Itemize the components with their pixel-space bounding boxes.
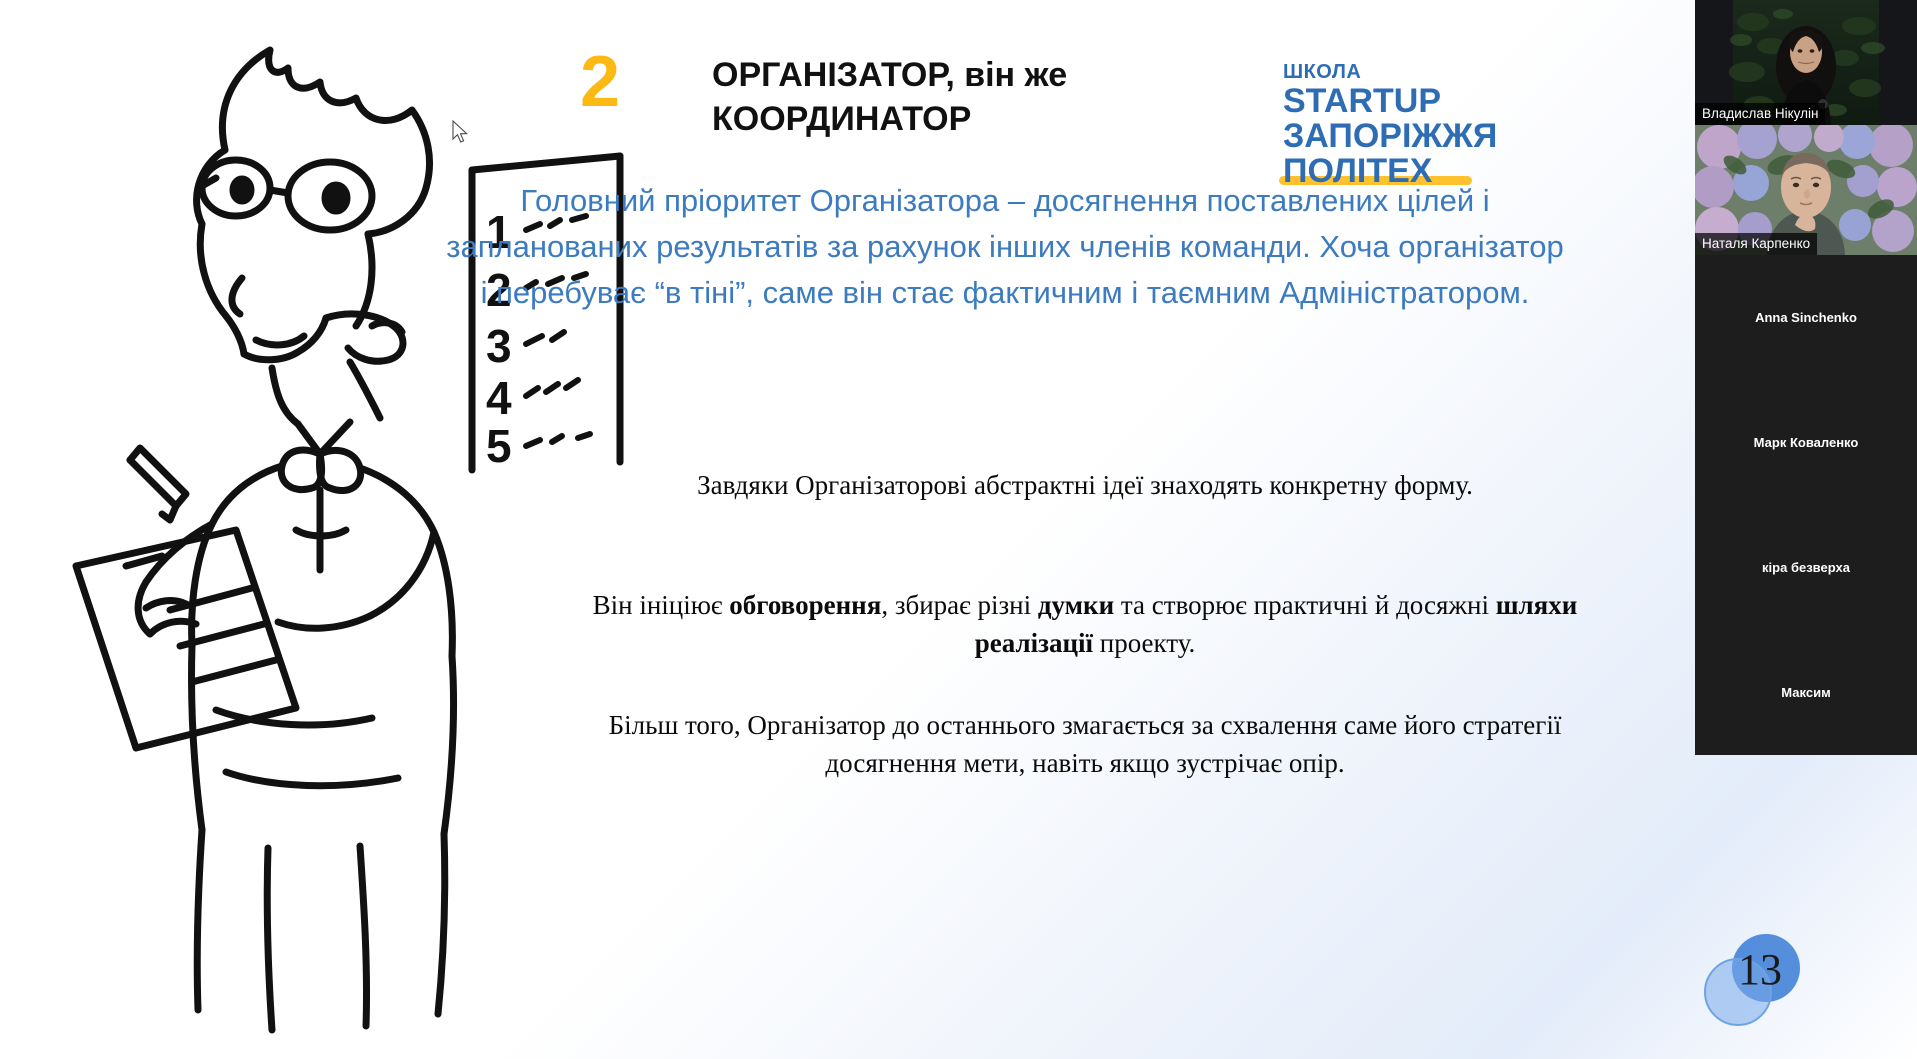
participant-name-label: Марк Коваленко <box>1748 435 1865 450</box>
screen: 1 2 3 4 5 2 ОРГАНІЗАТОР, він же КООРДИНА… <box>0 0 1917 1059</box>
logo-line-polytech: ПОЛІТЕХ <box>1283 154 1432 189</box>
participant-name-label: Anna Sinchenko <box>1749 310 1863 325</box>
participant-tile[interactable]: Максим <box>1695 630 1917 755</box>
para2-text-1: Він ініціює <box>593 590 730 620</box>
video-tile[interactable]: Владислав Нікулін <box>1695 0 1917 125</box>
slide-page-indicator: 13 <box>1700 930 1820 1040</box>
presentation-slide: 1 2 3 4 5 2 ОРГАНІЗАТОР, він же КООРДИНА… <box>0 0 1917 1059</box>
mouse-cursor <box>452 120 470 144</box>
participant-tile[interactable]: кіра безверха <box>1695 505 1917 630</box>
slide-step-number: 2 <box>580 46 619 118</box>
logo-line-startup: STARTUP <box>1283 84 1497 119</box>
slide-body-paragraph-1: Завдяки Організаторові абстрактні ідеї з… <box>560 466 1610 504</box>
video-tile[interactable]: Наталя Карпенко <box>1695 125 1917 255</box>
logo-line-zaporizhzhia: ЗАПОРІЖЖЯ <box>1283 119 1497 154</box>
participant-name-label: Владислав Нікулін <box>1695 103 1825 125</box>
participant-name-label: Наталя Карпенко <box>1695 233 1817 255</box>
slide-heading: ОРГАНІЗАТОР, він же КООРДИНАТОР <box>712 54 1312 141</box>
para2-bold-1: обговорення <box>729 590 881 620</box>
para2-text-3: та створює практичні й досяжні <box>1114 590 1496 620</box>
para2-text-2: , збирає різні <box>881 590 1038 620</box>
svg-text:4: 4 <box>486 372 512 424</box>
svg-text:5: 5 <box>486 420 512 472</box>
illustration-cartoon-organizer: 1 2 3 4 5 <box>20 10 650 1059</box>
para2-text-4: проекту. <box>1093 628 1195 658</box>
participant-tile[interactable]: Anna Sinchenko <box>1695 255 1917 380</box>
brand-logo: ШКОЛА STARTUP ЗАПОРІЖЖЯ ПОЛІТЕХ <box>1283 62 1497 188</box>
video-conference-panel[interactable]: Владислав Нікулін <box>1695 0 1917 755</box>
slide-body-paragraph-2: Він ініціює обговорення, збирає різні ду… <box>560 586 1610 663</box>
svg-text:3: 3 <box>486 320 512 372</box>
slide-lead-paragraph: Головний пріоритет Організатора – досягн… <box>440 178 1570 316</box>
logo-kicker: ШКОЛА <box>1283 62 1497 82</box>
slide-body-paragraph-3: Більш того, Організатор до останнього зм… <box>560 706 1610 783</box>
page-number-text: 13 <box>1730 944 1790 995</box>
participant-tile[interactable]: Марк Коваленко <box>1695 380 1917 505</box>
participant-name-label: кіра безверха <box>1756 560 1856 575</box>
para2-bold-2: думки <box>1038 590 1114 620</box>
participant-name-label: Максим <box>1775 685 1836 700</box>
